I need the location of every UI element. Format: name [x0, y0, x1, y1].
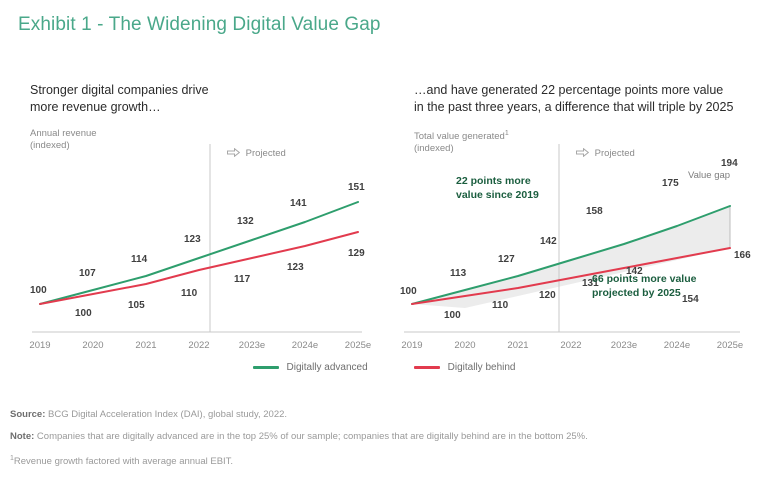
footnote-one-text: Revenue growth factored with average ann…: [14, 456, 233, 467]
right-chart-panel: …and have generated 22 percentage points…: [394, 82, 768, 382]
left-xlabel-6: 2025e: [345, 340, 371, 351]
chart-legend: Digitally advanced Digitally behind: [0, 362, 768, 373]
right-xlabel-1: 2020: [454, 340, 475, 351]
right-label-advanced-2021: 127: [498, 254, 515, 265]
right-label-advanced-2025e: 194: [721, 158, 738, 169]
left-xlabel-5: 2024e: [292, 340, 318, 351]
left-chart-plot: 100 107 114 123 132 141 151 100 105 110 …: [10, 82, 384, 382]
legend-label-advanced: Digitally advanced: [287, 362, 368, 373]
legend-swatch-behind: [414, 366, 440, 369]
right-xlabel-4: 2023e: [611, 340, 637, 351]
left-label-behind-2022: 117: [234, 274, 250, 285]
left-chart-svg: [10, 82, 384, 382]
right-xlabel-3: 2022: [560, 340, 581, 351]
right-label-behind-2025e: 166: [734, 250, 751, 261]
left-xlabel-0: 2019: [29, 340, 50, 351]
left-chart-panel: Stronger digital companies drive more re…: [10, 82, 384, 382]
left-xlabel-3: 2022: [188, 340, 209, 351]
legend-label-behind: Digitally behind: [448, 362, 516, 373]
legend-swatch-advanced: [253, 366, 279, 369]
right-xlabel-6: 2025e: [717, 340, 743, 351]
annotation-66-points: 66 points more value projected by 2025: [592, 272, 696, 300]
right-label-advanced-2023e: 158: [586, 206, 603, 217]
right-label-behind-2019: 100: [444, 310, 461, 321]
footnote-note-text: Companies that are digitally advanced ar…: [37, 431, 588, 442]
footnote-source: Source: BCG Digital Acceleration Index (…: [10, 408, 760, 421]
right-label-advanced-2022: 142: [540, 236, 557, 247]
page-title: Exhibit 1 - The Widening Digital Value G…: [18, 14, 381, 36]
footnote-note-label: Note:: [10, 431, 34, 442]
right-label-advanced-2024e: 175: [662, 178, 679, 189]
left-label-advanced-2020: 107: [79, 268, 96, 279]
right-label-behind-2020: 110: [492, 300, 508, 311]
value-gap-label: Value gap: [688, 170, 730, 181]
footnote-one: 1Revenue growth factored with average an…: [10, 452, 760, 468]
left-label-advanced-2025e: 151: [348, 182, 365, 193]
left-label-advanced-2022: 123: [184, 234, 201, 245]
left-series-advanced: [40, 202, 358, 304]
footnote-source-text: BCG Digital Acceleration Index (DAI), gl…: [48, 409, 287, 420]
left-xlabel-4: 2023e: [239, 340, 265, 351]
right-xlabel-5: 2024e: [664, 340, 690, 351]
footnotes-block: Source: BCG Digital Acceleration Index (…: [10, 408, 760, 477]
left-label-behind-2020: 105: [128, 300, 145, 311]
left-label-behind-2023e: 123: [287, 262, 304, 273]
left-label-advanced-2024e: 141: [290, 198, 307, 209]
left-label-behind-2021: 110: [181, 288, 197, 299]
right-label-advanced-2020: 113: [450, 268, 466, 279]
left-label-behind-2019: 100: [75, 308, 92, 319]
right-xlabel-2: 2021: [507, 340, 528, 351]
left-xlabel-2: 2021: [135, 340, 156, 351]
left-label-advanced-2021: 114: [131, 254, 147, 265]
left-xlabel-1: 2020: [82, 340, 103, 351]
legend-item-behind: Digitally behind: [414, 362, 516, 373]
left-label-behind-2024e: 129: [348, 248, 365, 259]
right-xlabel-0: 2019: [401, 340, 422, 351]
footnote-source-label: Source:: [10, 409, 45, 420]
left-label-advanced-2019: 100: [30, 285, 47, 296]
legend-item-advanced: Digitally advanced: [253, 362, 368, 373]
footnote-note: Note: Companies that are digitally advan…: [10, 430, 760, 443]
right-label-advanced-2019: 100: [400, 286, 417, 297]
right-chart-plot: 100 113 127 142 158 175 194 100 110 120 …: [394, 82, 768, 382]
right-label-behind-2021: 120: [539, 290, 556, 301]
right-chart-svg: [394, 82, 768, 382]
left-label-advanced-2023e: 132: [237, 216, 254, 227]
annotation-22-points: 22 points more value since 2019: [456, 174, 539, 202]
